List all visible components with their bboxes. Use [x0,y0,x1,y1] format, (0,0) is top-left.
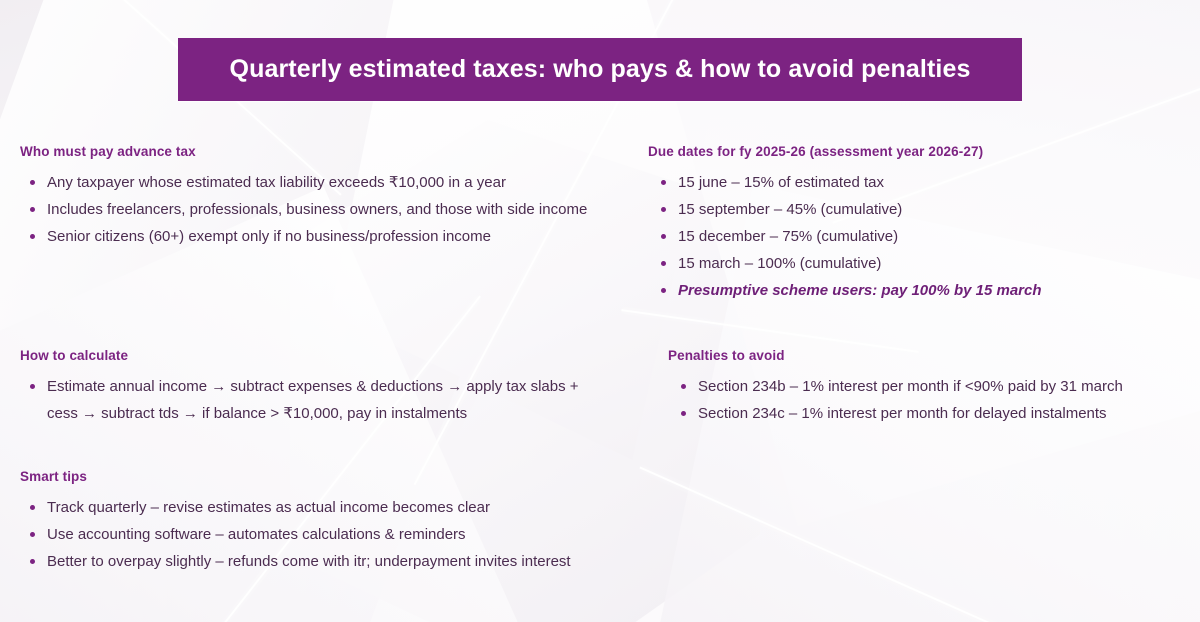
list-item: 15 march – 100% (cumulative) [648,250,1042,277]
background-seam-6 [621,309,918,353]
section-heading-due-dates: Due dates for fy 2025-26 (assessment yea… [648,144,1042,159]
section-heading-who-must-pay: Who must pay advance tax [20,144,587,159]
section-who-must-pay: Who must pay advance tax Any taxpayer wh… [20,144,587,250]
section-heading-smart-tips: Smart tips [20,469,571,484]
list-item: Section 234c – 1% interest per month for… [668,400,1123,427]
list-who-must-pay: Any taxpayer whose estimated tax liabili… [20,169,587,250]
list-item: Track quarterly – revise estimates as ac… [20,494,571,521]
page-title: Quarterly estimated taxes: who pays & ho… [230,55,971,84]
list-item: 15 september – 45% (cumulative) [648,196,1042,223]
section-how-to-calculate: How to calculate Estimate annual income … [20,348,592,427]
background-seam-5 [639,467,1060,622]
list-item: Use accounting software – automates calc… [20,521,571,548]
list-item: 15 december – 75% (cumulative) [648,223,1042,250]
list-item: Includes freelancers, professionals, bus… [20,196,587,223]
section-penalties: Penalties to avoid Section 234b – 1% int… [668,348,1123,427]
section-heading-how-to-calculate: How to calculate [20,348,592,363]
list-how-to-calculate: Estimate annual income → subtract expens… [20,373,592,427]
list-item: Estimate annual income → subtract expens… [20,373,592,427]
section-heading-penalties: Penalties to avoid [668,348,1123,363]
list-smart-tips: Track quarterly – revise estimates as ac… [20,494,571,575]
list-item-emphasised: Presumptive scheme users: pay 100% by 15… [648,277,1042,304]
list-item: Better to overpay slightly – refunds com… [20,548,571,575]
list-due-dates: 15 june – 15% of estimated tax 15 septem… [648,169,1042,304]
title-banner: Quarterly estimated taxes: who pays & ho… [178,38,1022,101]
list-item: Senior citizens (60+) exempt only if no … [20,223,587,250]
section-smart-tips: Smart tips Track quarterly – revise esti… [20,469,571,575]
infographic-canvas: Quarterly estimated taxes: who pays & ho… [0,0,1200,622]
list-item: 15 june – 15% of estimated tax [648,169,1042,196]
list-item: Section 234b – 1% interest per month if … [668,373,1123,400]
section-due-dates: Due dates for fy 2025-26 (assessment yea… [648,144,1042,304]
list-penalties: Section 234b – 1% interest per month if … [668,373,1123,427]
list-item: Any taxpayer whose estimated tax liabili… [20,169,587,196]
